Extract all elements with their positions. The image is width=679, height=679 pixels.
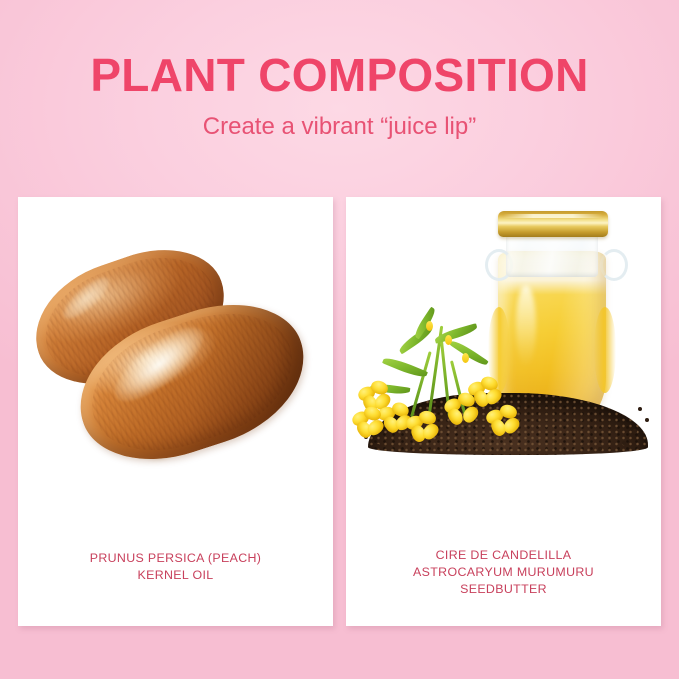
rapeseed-flower-group: [352, 319, 542, 445]
flower-bud-1: [426, 321, 433, 331]
poster-header: PLANT COMPOSITION Create a vibrant “juic…: [0, 0, 679, 190]
caption-line-1: PRUNUS PERSICA (PEACH): [32, 550, 319, 567]
flower-bloom-7: [352, 407, 386, 441]
flower-bloom-3: [406, 411, 440, 445]
jar-clip-right-icon: [600, 249, 628, 281]
seed-scatter-7: [598, 447, 602, 451]
jar-clip-left-icon: [485, 249, 513, 281]
ingredient-card-candelilla-murumuru: CIRE DE CANDELILLA ASTROCARYUM MURUMURU …: [346, 197, 661, 626]
caption-line-3: SEEDBUTTER: [360, 581, 647, 598]
ingredient-caption-candelilla: CIRE DE CANDELILLA ASTROCARYUM MURUMURU …: [346, 547, 661, 626]
seed-scatter-1: [638, 407, 642, 411]
seed-scatter-3: [632, 429, 637, 434]
peach-kernel-image: [18, 197, 333, 550]
oil-jar-image: [346, 197, 661, 547]
plant-composition-poster: PLANT COMPOSITION Create a vibrant “juic…: [0, 0, 679, 679]
seed-scatter-2: [645, 418, 649, 422]
flower-bud-2: [445, 335, 452, 345]
jar-lid: [498, 211, 608, 237]
ingredient-card-list: PRUNUS PERSICA (PEACH) KERNEL OIL: [18, 197, 661, 626]
oil-jar-scene: [346, 197, 661, 547]
page-subtitle: Create a vibrant “juice lip”: [0, 100, 679, 142]
flower-leaf-4: [449, 338, 488, 368]
flower-bloom-6: [486, 405, 520, 439]
ingredient-caption-peach: PRUNUS PERSICA (PEACH) KERNEL OIL: [18, 550, 333, 626]
caption-line-2: ASTROCARYUM MURUMURU: [360, 564, 647, 581]
caption-line-2: KERNEL OIL: [32, 567, 319, 584]
jar-neck: [506, 233, 598, 277]
flower-leaf-3: [382, 355, 428, 381]
flower-bud-3: [462, 353, 469, 363]
caption-line-1: CIRE DE CANDELILLA: [360, 547, 647, 564]
seed-scatter-4: [622, 441, 626, 445]
page-title: PLANT COMPOSITION: [0, 0, 679, 100]
ingredient-card-peach-kernel-oil: PRUNUS PERSICA (PEACH) KERNEL OIL: [18, 197, 333, 626]
jar-glass-highlight: [516, 285, 536, 367]
almond-scene: [18, 197, 333, 550]
